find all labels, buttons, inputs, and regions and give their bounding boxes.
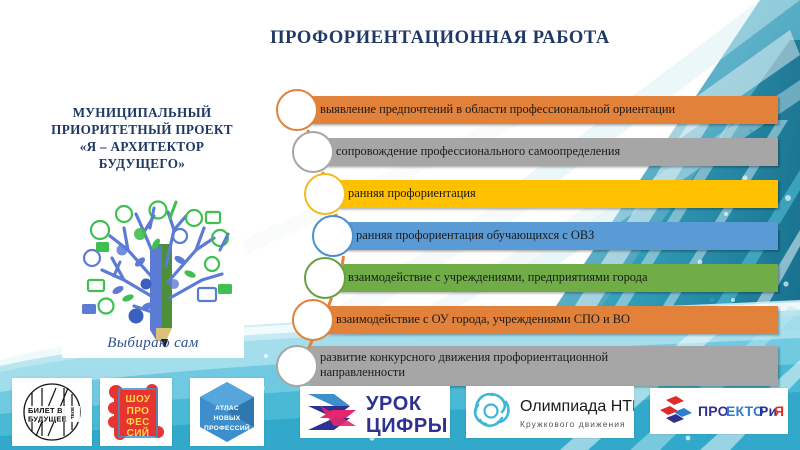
chain-node-3[interactable] — [304, 173, 346, 215]
project-heading-line-1: МУНИЦИПАЛЬНЫЙ — [26, 104, 258, 121]
chain-node-7[interactable] — [276, 345, 318, 387]
svg-text:ПРОФЕССИЙ: ПРОФЕССИЙ — [204, 423, 250, 432]
chain-node-2[interactable] — [292, 131, 334, 173]
chain-bar-5-label: взаимодействие с учреждениями, предприят… — [338, 270, 655, 285]
svg-text:ПРО: ПРО — [698, 403, 729, 419]
svg-text:ПРО: ПРО — [127, 406, 150, 417]
project-heading: МУНИЦИПАЛЬНЫЙ ПРИОРИТЕТНЫЙ ПРОЕКТ «Я – А… — [26, 104, 258, 173]
svg-text:ТВОЕ: ТВОЕ — [70, 407, 75, 419]
chain-node-4[interactable] — [312, 215, 354, 257]
pencil-tree-illustration: Выбираю сам — [62, 188, 244, 358]
chain-bar-6-label: взаимодействие с ОУ города, учреждениями… — [326, 312, 638, 327]
svg-text:ШОУ: ШОУ — [126, 394, 151, 405]
svg-text:АТЛАС: АТЛАС — [215, 405, 239, 412]
logo-card-bilet-v-budushchee[interactable]: БИЛЕТ В БУДУЩЕЕ ТВОЕ — [12, 378, 92, 446]
svg-text:НОВЫХ: НОВЫХ — [213, 415, 240, 422]
pencil-tree-graphic — [62, 188, 244, 358]
chain-bar-1[interactable]: выявление предпочтений в области професс… — [310, 96, 778, 124]
chain-bar-7[interactable]: развитие конкурсного движения профориент… — [310, 346, 778, 386]
process-chain: выявление предпочтений в области професс… — [268, 90, 788, 370]
chain-bar-2[interactable]: сопровождение профессионального самоопре… — [326, 138, 778, 166]
shou-professiy-logo: ШОУ ПРО ФЕС СИЙ — [100, 378, 172, 446]
project-heading-line-4: БУДУЩЕГО» — [26, 155, 258, 172]
logo-card-proektoriya[interactable]: ПРО ЕКТО Ри Я — [650, 388, 788, 434]
chain-bar-3-label: ранняя профориентация — [338, 186, 484, 201]
olimpiada-nti-logo: Олимпиада НТИ Кружкового движения — [466, 386, 634, 438]
logo-card-atlas-novykh-professiy[interactable]: АТЛАС НОВЫХ ПРОФЕССИЙ — [190, 378, 264, 446]
bilet-v-budushchee-logo: БИЛЕТ В БУДУЩЕЕ ТВОЕ — [12, 378, 92, 446]
svg-text:Олимпиада НТИ: Олимпиада НТИ — [520, 398, 634, 415]
svg-text:СИЙ: СИЙ — [127, 426, 150, 439]
atlas-novykh-professiy-logo: АТЛАС НОВЫХ ПРОФЕССИЙ — [190, 378, 264, 446]
chain-bar-3[interactable]: ранняя профориентация — [338, 180, 778, 208]
chain-bar-7-label: развитие конкурсного движения профориент… — [310, 346, 616, 380]
chain-bar-5[interactable]: взаимодействие с учреждениями, предприят… — [338, 264, 778, 292]
chain-bar-6[interactable]: взаимодействие с ОУ города, учреждениями… — [326, 306, 778, 334]
chain-bar-1-label: выявление предпочтений в области професс… — [310, 102, 683, 117]
chain-bar-4[interactable]: ранняя профориентация обучающихся с ОВЗ — [346, 222, 778, 250]
chain-bar-4-label: ранняя профориентация обучающихся с ОВЗ — [346, 228, 602, 243]
project-heading-line-3: «Я – АРХИТЕКТОР — [26, 138, 258, 155]
svg-text:УРОК: УРОК — [366, 393, 422, 415]
proektoriya-logo: ПРО ЕКТО Ри Я — [650, 388, 788, 434]
svg-text:БУДУЩЕЕ: БУДУЩЕЕ — [28, 415, 67, 424]
urok-tsifry-logo: УРОК ЦИФРЫ — [300, 386, 450, 438]
svg-text:ФЕС: ФЕС — [126, 417, 150, 428]
chain-node-6[interactable] — [292, 299, 334, 341]
svg-text:Кружкового движения: Кружкового движения — [520, 419, 626, 429]
tree-caption: Выбираю сам — [62, 335, 244, 352]
logo-card-shou-professiy[interactable]: ШОУ ПРО ФЕС СИЙ — [100, 378, 172, 446]
logo-card-olimpiada-nti[interactable]: Олимпиада НТИ Кружкового движения — [466, 386, 634, 438]
svg-text:Я: Я — [774, 403, 784, 419]
logo-card-urok-tsifry[interactable]: УРОК ЦИФРЫ — [300, 386, 450, 438]
page-title: ПРОФОРИЕНТАЦИОННАЯ РАБОТА — [180, 28, 700, 49]
chain-bar-2-label: сопровождение профессионального самоопре… — [326, 144, 628, 159]
chain-node-5[interactable] — [304, 257, 346, 299]
svg-text:ЦИФРЫ: ЦИФРЫ — [366, 415, 448, 437]
slide-canvas: ПРОФОРИЕНТАЦИОННАЯ РАБОТА МУНИЦИПАЛЬНЫЙ … — [0, 0, 800, 450]
chain-node-1[interactable] — [276, 89, 318, 131]
project-heading-line-2: ПРИОРИТЕТНЫЙ ПРОЕКТ — [26, 121, 258, 138]
